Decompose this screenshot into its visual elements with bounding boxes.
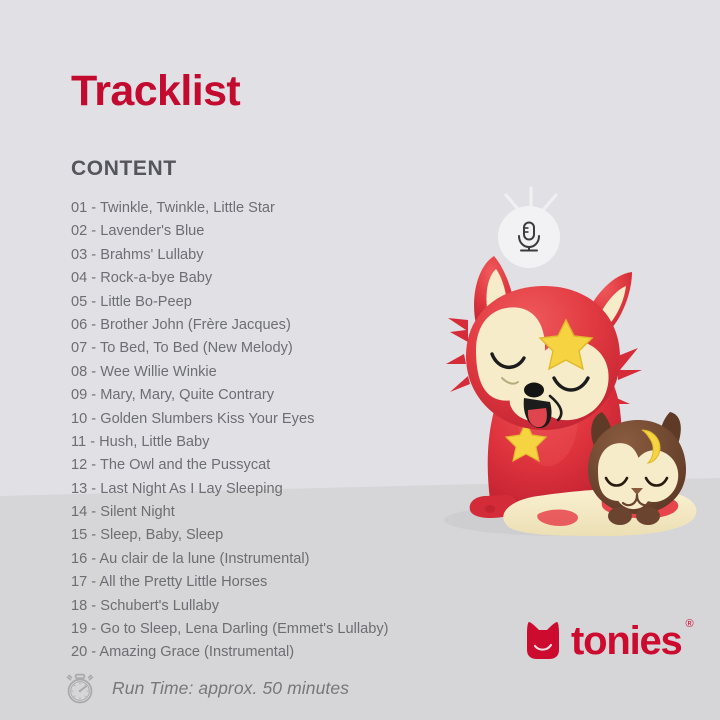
tonies-wordmark: tonies ® [571,621,682,661]
track-list-item: 09 - Mary, Mary, Quite Contrary [71,384,491,407]
microphone-badge [498,206,560,268]
track-list-item: 13 - Last Night As I Lay Sleeping [71,478,491,501]
tonies-wordmark-text: tonies [571,619,682,663]
track-title: Sleep, Baby, Sleep [100,527,223,543]
microphone-icon [516,221,542,253]
track-separator: - [87,294,100,310]
track-separator: - [87,504,100,520]
track-list-item: 15 - Sleep, Baby, Sleep [71,524,491,547]
runtime-text: Run Time: approx. 50 minutes [112,678,349,699]
track-list-item: 06 - Brother John (Frère Jacques) [71,314,491,337]
tonies-logo: tonies ® [524,620,682,662]
track-number: 15 [71,527,87,543]
track-list-item: 05 - Little Bo-Peep [71,291,491,314]
track-title: Amazing Grace (Instrumental) [99,644,294,660]
tonies-cat-head-icon [524,620,562,662]
track-list-item: 07 - To Bed, To Bed (New Melody) [71,337,491,360]
track-number: 06 [71,317,87,333]
track-number: 19 [71,621,87,637]
track-title: All the Pretty Little Horses [99,574,267,590]
track-title: Rock-a-bye Baby [100,270,212,286]
tracklist-page: Tracklist CONTENT 01 - Twinkle, Twinkle,… [0,0,720,720]
track-list-item: 03 - Brahms' Lullaby [71,244,491,267]
track-separator: - [87,551,99,567]
track-number: 04 [71,270,87,286]
track-separator: - [87,411,100,427]
page-title: Tracklist [71,70,240,113]
track-separator: - [87,247,100,263]
track-list-item: 19 - Go to Sleep, Lena Darling (Emmet's … [71,618,491,641]
track-number: 13 [71,481,87,497]
track-title: Brother John (Frère Jacques) [100,317,291,333]
track-title: Silent Night [100,504,175,520]
track-title: Last Night As I Lay Sleeping [100,481,283,497]
track-number: 07 [71,340,87,356]
track-separator: - [87,270,100,286]
runtime-row: Run Time: approx. 50 minutes [62,670,349,706]
track-separator: - [87,598,100,614]
track-list-item: 16 - Au clair de la lune (Instrumental) [71,548,491,571]
track-separator: - [87,317,100,333]
track-separator: - [87,364,100,380]
track-separator: - [87,340,100,356]
track-list-item: 11 - Hush, Little Baby [71,431,491,454]
track-title: Schubert's Lullaby [100,598,219,614]
track-number: 18 [71,598,87,614]
track-title: Twinkle, Twinkle, Little Star [100,200,275,216]
track-separator: - [87,200,100,216]
stopwatch-icon [62,670,98,706]
tracklist: 01 - Twinkle, Twinkle, Little Star02 - L… [71,197,491,665]
track-separator: - [87,387,100,403]
track-number: 02 [71,223,87,239]
track-number: 03 [71,247,87,263]
track-title: Lavender's Blue [100,223,204,239]
track-separator: - [87,223,100,239]
track-separator: - [87,644,99,660]
track-number: 14 [71,504,87,520]
track-number: 01 [71,200,87,216]
track-number: 12 [71,457,87,473]
track-number: 10 [71,411,87,427]
track-number: 08 [71,364,87,380]
track-title: Golden Slumbers Kiss Your Eyes [100,411,314,427]
track-list-item: 10 - Golden Slumbers Kiss Your Eyes [71,408,491,431]
track-list-item: 02 - Lavender's Blue [71,220,491,243]
track-title: Mary, Mary, Quite Contrary [100,387,274,403]
track-number: 05 [71,294,87,310]
track-separator: - [87,574,99,590]
track-list-item: 17 - All the Pretty Little Horses [71,571,491,594]
track-number: 16 [71,551,87,567]
track-separator: - [87,457,100,473]
track-title: Go to Sleep, Lena Darling (Emmet's Lulla… [100,621,388,637]
track-number: 17 [71,574,87,590]
track-list-item: 20 - Amazing Grace (Instrumental) [71,641,491,664]
track-separator: - [86,434,99,450]
track-separator: - [87,621,100,637]
track-list-item: 04 - Rock-a-bye Baby [71,267,491,290]
track-list-item: 08 - Wee Willie Winkie [71,361,491,384]
track-list-item: 18 - Schubert's Lullaby [71,595,491,618]
registered-trademark-symbol: ® [685,619,693,630]
track-number: 09 [71,387,87,403]
track-list-item: 01 - Twinkle, Twinkle, Little Star [71,197,491,220]
content-heading: CONTENT [71,158,177,179]
track-title: To Bed, To Bed (New Melody) [100,340,293,356]
track-number: 20 [71,644,87,660]
track-title: Wee Willie Winkie [100,364,217,380]
track-separator: - [87,481,100,497]
track-title: Little Bo-Peep [100,294,192,310]
track-title: Hush, Little Baby [99,434,209,450]
track-list-item: 12 - The Owl and the Pussycat [71,454,491,477]
track-separator: - [87,527,100,543]
track-title: Brahms' Lullaby [100,247,203,263]
track-title: Au clair de la lune (Instrumental) [99,551,309,567]
track-title: The Owl and the Pussycat [100,457,270,473]
track-number: 11 [71,434,86,450]
track-list-item: 14 - Silent Night [71,501,491,524]
